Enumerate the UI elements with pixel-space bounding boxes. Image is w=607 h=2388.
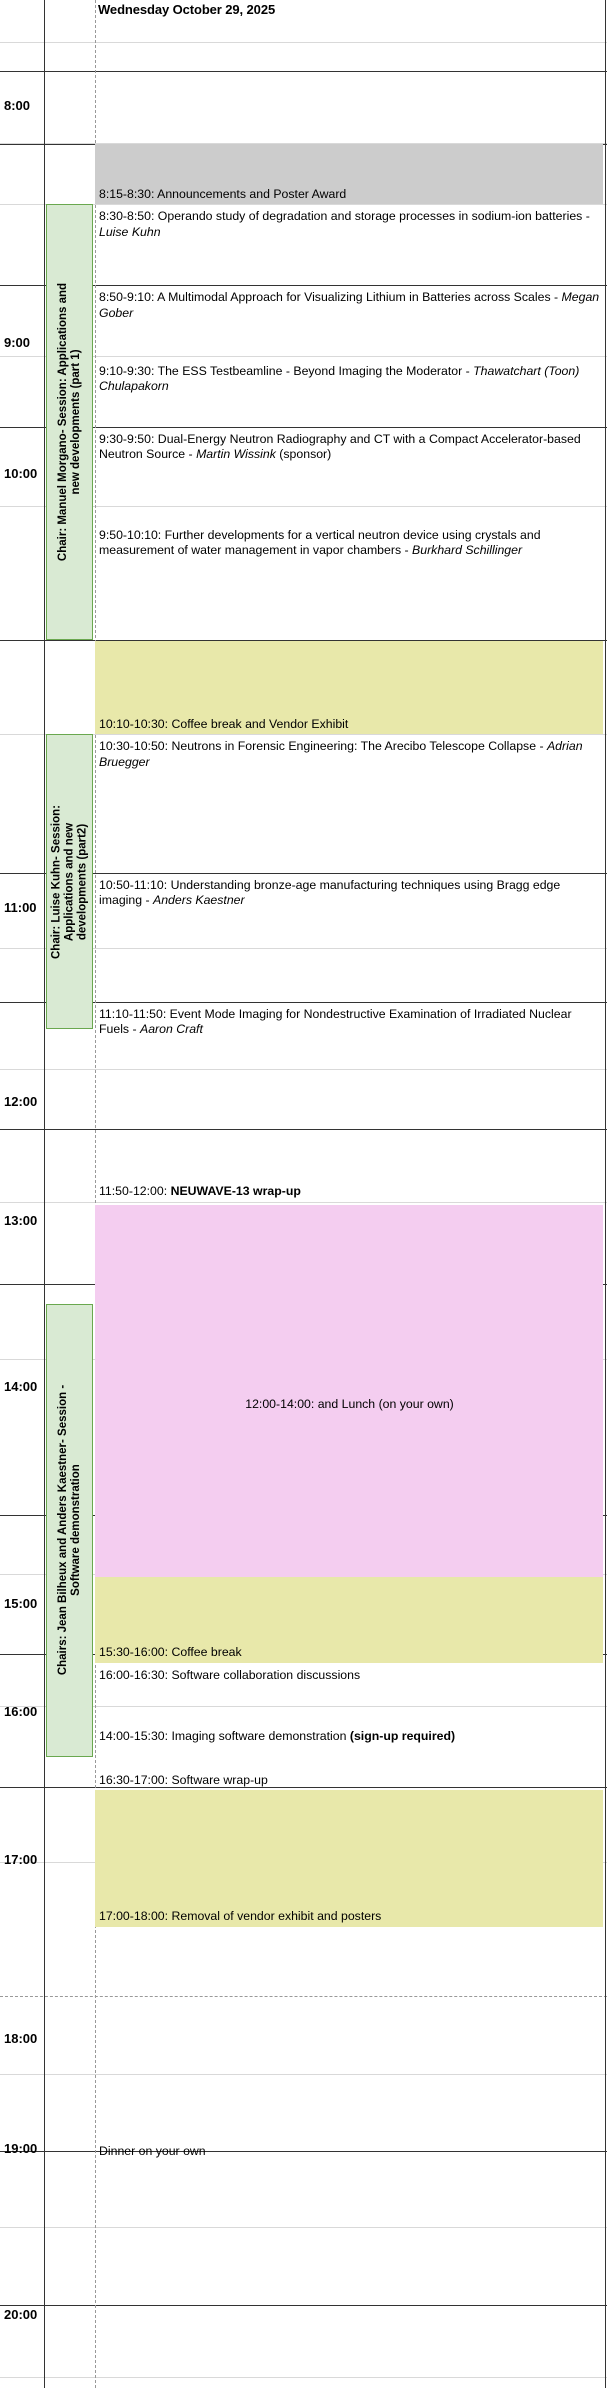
event-event-mode-imaging[interactable]: 11:10-11:50: Event Mode Imaging for Nond… [95, 1005, 603, 1128]
time-label-1400: 14:00 [4, 1380, 52, 1394]
event-announcements[interactable]: 8:15-8:30: Announcements and Poster Awar… [95, 144, 603, 204]
time-label-0900: 9:00 [4, 336, 52, 350]
page-title: Wednesday October 29, 2025 [98, 2, 275, 17]
session-1-line1: Chair: Manuel Morgano- Session: Applicat… [57, 283, 70, 561]
event-software-wrapup[interactable]: 16:30-17:00: Software wrap-up [95, 1708, 603, 1791]
event-announcements-title: Announcements and Poster Award [154, 187, 346, 201]
grid-line [0, 2305, 607, 2306]
event-dual-energy-suffix: (sponsor) [276, 447, 331, 461]
event-operando-title: Operando study of degradation and storag… [154, 209, 589, 223]
event-ess-time: 9:10-9:30: [99, 364, 154, 378]
grid-line [0, 2377, 607, 2378]
session-2-line2: Applications and new [63, 805, 76, 959]
session-block-2[interactable]: Chair: Luise Kuhn- Session: Applications… [46, 734, 93, 1028]
event-vertical-neutron-device[interactable]: 9:50-10:10: Further developments for a v… [95, 526, 603, 640]
event-coffee-afternoon-time: 15:30-16:00: [99, 1645, 168, 1659]
event-announcements-time: 8:15-8:30: [99, 187, 154, 201]
event-forensic-arecibo[interactable]: 10:30-10:50: Neutrons in Forensic Engine… [95, 737, 603, 871]
event-lunch[interactable]: 12:00-14:00: and Lunch (on your own) [95, 1205, 603, 1606]
event-removal-vendor-exhibit[interactable]: 17:00-18:00: Removal of vendor exhibit a… [95, 1790, 603, 1927]
event-dinner-title: Dinner on your own [99, 2144, 206, 2158]
event-dual-energy-radiography[interactable]: 9:30-9:50: Dual-Energy Neutron Radiograp… [95, 430, 603, 523]
session-3-line2: Software demonstration [70, 1385, 83, 1675]
grid-line [0, 71, 607, 72]
session-block-1[interactable]: Chair: Manuel Morgano- Session: Applicat… [46, 204, 93, 640]
session-1-line2: new developments (part 1) [70, 283, 83, 561]
event-softcollab-time: 16:00-16:30: [99, 1668, 168, 1682]
event-forensic-title: Neutrons in Forensic Engineering: The Ar… [168, 739, 547, 753]
event-operando-speaker: Luise Kuhn [99, 225, 161, 239]
grid-line [0, 1996, 607, 1997]
session-3-line1: Chairs: Jean Bilheux and Anders Kaestner… [57, 1385, 70, 1675]
grid-line-vertical [44, 0, 45, 2388]
time-label-1600: 16:00 [4, 1705, 52, 1719]
grid-line-vertical [605, 0, 606, 2388]
schedule-grid: Wednesday October 29, 2025 8:00 9:00 [0, 0, 607, 2388]
event-dual-energy-time: 9:30-9:50: [99, 432, 154, 446]
event-multimodal-lithium[interactable]: 8:50-9:10: A Multimodal Approach for Vis… [95, 288, 603, 359]
time-label-1000: 10:00 [4, 467, 52, 481]
event-multimodal-time: 8:50-9:10: [99, 290, 154, 304]
grid-line [0, 2227, 607, 2228]
event-lunch-time: 12:00-14:00: [245, 1397, 314, 1411]
time-label-1100: 11:00 [4, 901, 52, 915]
event-coffee-morning-time: 10:10-10:30: [99, 717, 168, 731]
event-vertical-speaker: Burkhard Schillinger [412, 543, 522, 557]
time-label-1900: 19:00 [4, 2142, 52, 2156]
session-2-line3: developments (part2) [76, 805, 89, 959]
event-eventmode-speaker: Aaron Craft [140, 1022, 203, 1036]
event-software-collaboration[interactable]: 16:00-16:30: Software collaboration disc… [95, 1666, 603, 1702]
event-operando-time: 8:30-8:50: [99, 209, 154, 223]
event-dinner[interactable]: Dinner on your own [95, 2142, 603, 2175]
event-bronze-age-bragg-edge[interactable]: 10:50-11:10: Understanding bronze-age ma… [95, 876, 603, 999]
event-operando-sodium-batteries[interactable]: 8:30-8:50: Operando study of degradation… [95, 207, 603, 285]
grid-line [0, 1202, 607, 1203]
event-softwrapup-title: Software wrap-up [168, 1773, 268, 1787]
event-bronze-time: 10:50-11:10: [99, 878, 167, 892]
time-label-0800: 8:00 [4, 99, 52, 113]
event-multimodal-title: A Multimodal Approach for Visualizing Li… [154, 290, 561, 304]
event-dual-energy-title: Dual-Energy Neutron Radiography and CT w… [99, 432, 581, 462]
event-coffee-afternoon-title: Coffee break [168, 1645, 242, 1659]
event-removal-time: 17:00-18:00: [99, 1909, 168, 1923]
event-vertical-time: 9:50-10:10: [99, 528, 161, 542]
grid-line [0, 1129, 607, 1130]
time-label-1700: 17:00 [4, 1853, 52, 1867]
event-neuwave-wrapup[interactable]: 11:50-12:00: NEUWAVE-13 wrap-up [95, 1132, 603, 1201]
event-lunch-title: and Lunch (on your own) [314, 1397, 453, 1411]
time-label-1800: 18:00 [4, 2032, 52, 2046]
event-neuwave-time: 11:50-12:00: [99, 1184, 167, 1198]
event-dual-energy-speaker: Martin Wissink [196, 447, 276, 461]
event-ess-testbeamline[interactable]: 9:10-9:30: The ESS Testbeamline - Beyond… [95, 362, 603, 427]
event-coffee-break-afternoon[interactable]: 15:30-16:00: Coffee break [95, 1577, 603, 1663]
event-removal-title: Removal of vendor exhibit and posters [168, 1909, 381, 1923]
event-coffee-morning-title: Coffee break and Vendor Exhibit [168, 717, 348, 731]
event-softcollab-title: Software collaboration discussions [168, 1668, 360, 1682]
event-neuwave-title: NEUWAVE-13 wrap-up [167, 1184, 301, 1198]
time-label-1200: 12:00 [4, 1095, 52, 1109]
time-label-1300: 13:00 [4, 1214, 52, 1228]
grid-line [0, 42, 607, 43]
grid-line [0, 2074, 607, 2075]
session-block-3[interactable]: Chairs: Jean Bilheux and Anders Kaestner… [46, 1304, 93, 1758]
event-ess-title: The ESS Testbeamline - Beyond Imaging th… [154, 364, 473, 378]
session-2-line1: Chair: Luise Kuhn- Session: [50, 805, 63, 959]
event-bronze-speaker: Anders Kaestner [153, 893, 245, 907]
event-softwrapup-time: 16:30-17:00: [99, 1773, 168, 1787]
event-coffee-break-morning[interactable]: 10:10-10:30: Coffee break and Vendor Exh… [95, 641, 603, 734]
time-label-2000: 20:00 [4, 2308, 52, 2322]
time-label-1500: 15:00 [4, 1597, 52, 1611]
event-eventmode-time: 11:10-11:50: [99, 1007, 166, 1021]
event-forensic-time: 10:30-10:50: [99, 739, 168, 753]
